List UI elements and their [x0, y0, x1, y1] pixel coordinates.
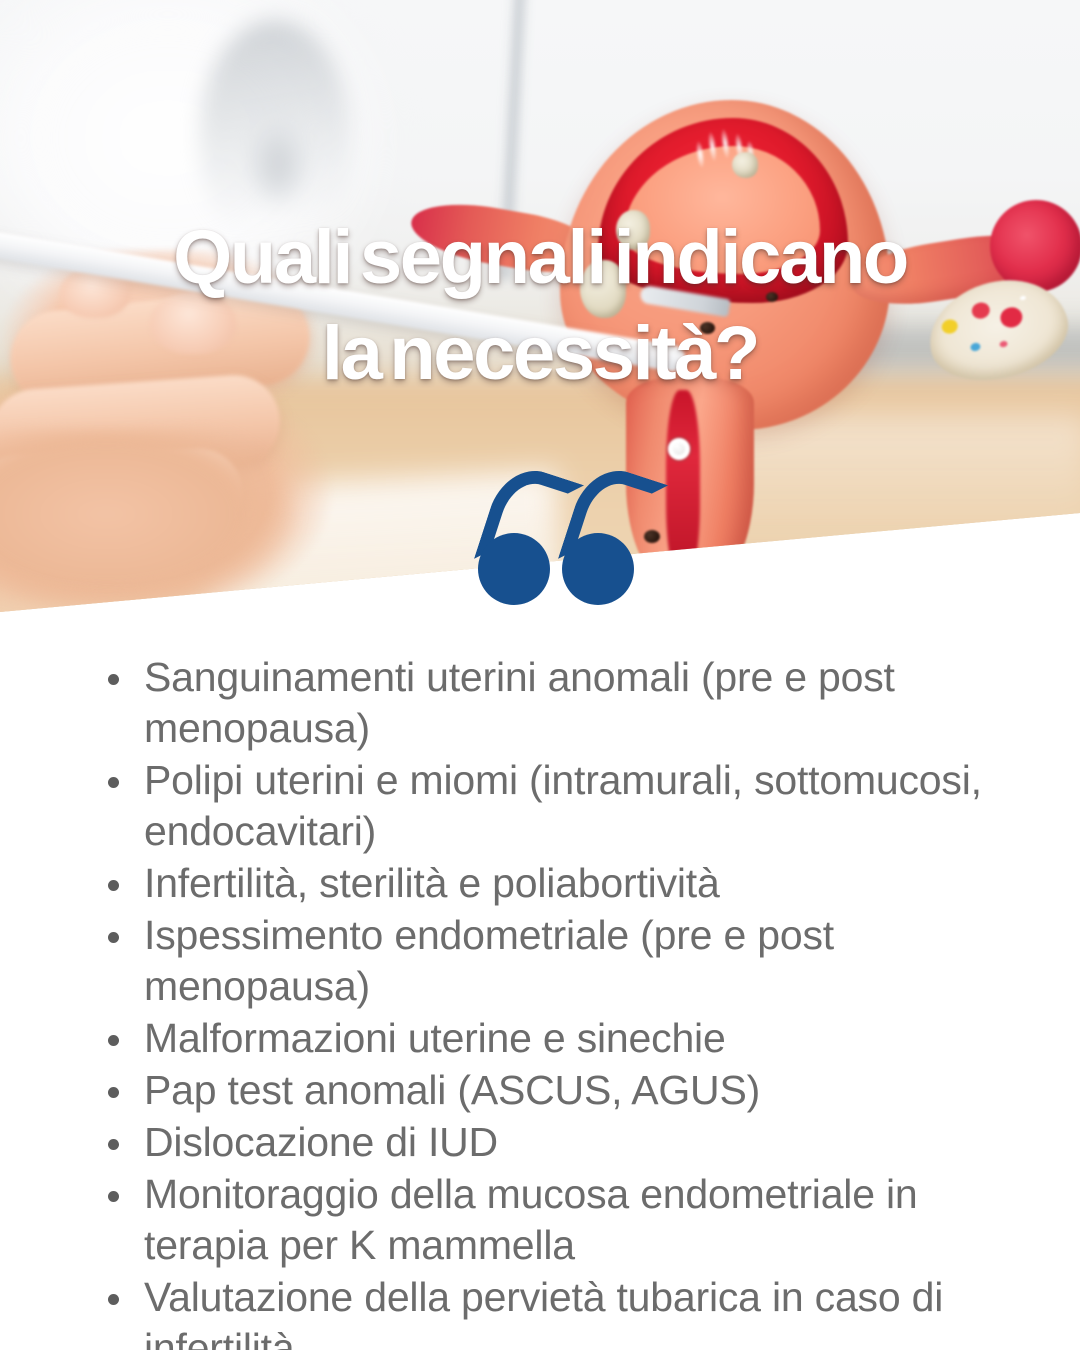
quote-mark-left: [478, 470, 550, 605]
marker-pin: [668, 438, 690, 460]
cervical-canal: [666, 390, 700, 580]
quote-mark-right: [562, 470, 634, 605]
list-item: Sanguinamenti uterini anomali (pre e pos…: [96, 652, 1016, 754]
indication-list: Sanguinamenti uterini anomali (pre e pos…: [96, 652, 1016, 1350]
lesion-spot-b: [766, 292, 778, 302]
list-item: Polipi uterini e miomi (intramurali, sot…: [96, 755, 1016, 857]
myoma-nodule-b: [616, 210, 650, 250]
list-item: Monitoraggio della mucosa endometriale i…: [96, 1169, 1016, 1271]
lesion-spot-d: [670, 552, 683, 563]
stethoscope-icon: [200, 20, 350, 250]
quote-ball-left: [478, 533, 550, 605]
list-item: Malformazioni uterine e sinechie: [96, 1013, 1016, 1064]
hand-palm: [0, 430, 350, 625]
lesion-spot-a: [700, 322, 715, 334]
myoma-nodule-c: [732, 152, 758, 178]
open-quote-icon: [478, 470, 648, 620]
list-item: Infertilità, sterilità e poliabortività: [96, 858, 1016, 909]
infographic-card: Quali segnali indicano la necessità? San…: [0, 0, 1080, 1350]
list-item: Pap test anomali (ASCUS, AGUS): [96, 1065, 1016, 1116]
list-item: Ispessimento endometriale (pre e post me…: [96, 910, 1016, 1012]
list-item: Dislocazione di IUD: [96, 1117, 1016, 1168]
ovary-right: [990, 200, 1080, 292]
list-item: Valutazione della pervietà tubarica in c…: [96, 1272, 1016, 1350]
quote-ball-right: [562, 533, 634, 605]
myoma-nodule-a: [580, 260, 626, 318]
fingernail: [150, 292, 236, 354]
